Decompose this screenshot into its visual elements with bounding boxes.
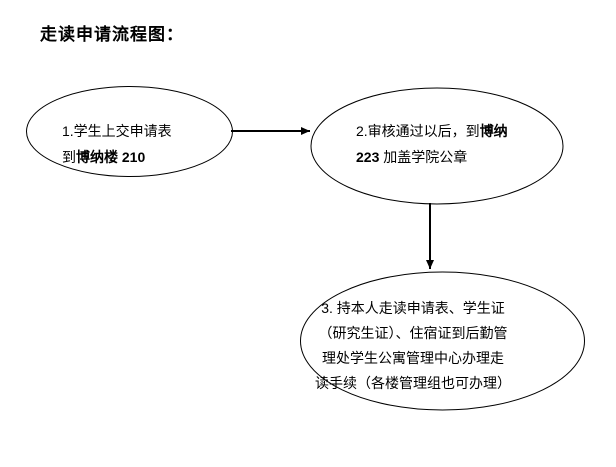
text-segment-bold: 博纳 bbox=[480, 123, 508, 139]
node-label-step-2: 2.审核通过以后，到博纳 223 加盖学院公章 bbox=[356, 118, 508, 170]
node-label-step-3-line-4: 读手续（各楼管理组也可办理） bbox=[315, 371, 511, 396]
text-segment: 2.审核通过以后，到 bbox=[356, 123, 480, 139]
node-label-step-1: 1.学生上交申请表 到博纳楼 210 bbox=[62, 118, 172, 170]
node-label-step-3-line-3: 理处学生公寓管理中心办理走 bbox=[315, 346, 511, 371]
flowchart-canvas bbox=[0, 0, 616, 467]
node-label-step-3-line-2: （研究生证）、住宿证到后勤管 bbox=[315, 321, 511, 346]
node-label-step-2-line-1: 2.审核通过以后，到博纳 bbox=[356, 118, 508, 144]
node-label-step-1-line-2: 到博纳楼 210 bbox=[62, 144, 172, 170]
text-segment-bold: 223 bbox=[356, 149, 379, 165]
text-segment: 到 bbox=[62, 149, 76, 165]
text-segment: 1.学生上交申请表 bbox=[62, 123, 172, 139]
node-label-step-1-line-1: 1.学生上交申请表 bbox=[62, 118, 172, 144]
node-label-step-3: 3. 持本人走读申请表、学生证 （研究生证）、住宿证到后勤管 理处学生公寓管理中… bbox=[315, 296, 511, 396]
node-label-step-3-line-1: 3. 持本人走读申请表、学生证 bbox=[315, 296, 511, 321]
text-segment: 加盖学院公章 bbox=[379, 149, 467, 165]
node-label-step-2-line-2: 223 加盖学院公章 bbox=[356, 144, 508, 170]
text-segment-bold: 博纳楼 210 bbox=[76, 149, 145, 165]
